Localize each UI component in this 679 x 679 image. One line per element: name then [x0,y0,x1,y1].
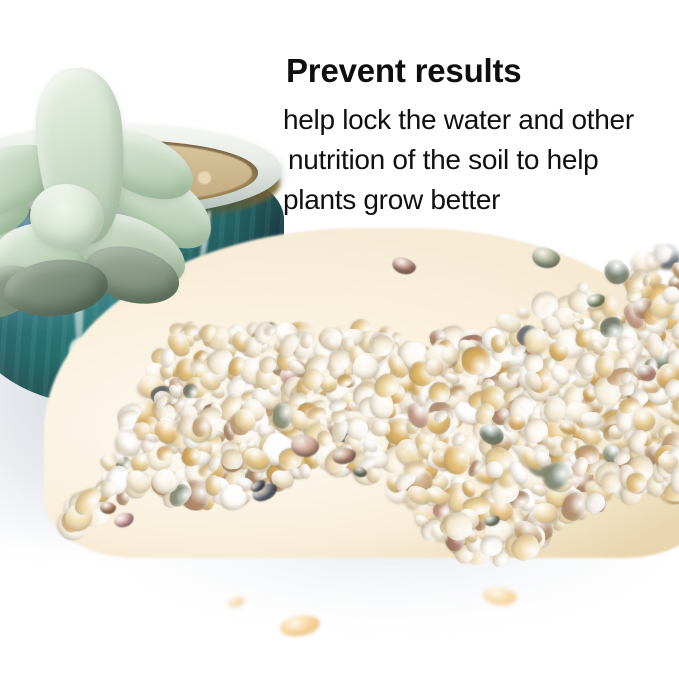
gravel-pebble [600,317,624,338]
gravel-pebble [673,323,679,340]
body-text-line-1: help lock the water and other [283,104,634,136]
gravel-pebble [429,382,450,403]
stray-pebble [482,586,518,606]
gravel-pebble [485,460,503,478]
product-image-canvas: Prevent results help lock the water and … [0,0,679,679]
stray-pebble [279,613,321,638]
gravel-pebble [580,354,596,376]
gravel-pebble [581,412,602,427]
stray-pebble [227,595,245,609]
gravel-pebble [595,355,614,377]
gravel-pebble [442,347,459,364]
body-text-line-2: nutrition of the soil to help [288,144,598,176]
body-text-line-3: plants grow better [283,184,500,216]
headline-text: Prevent results [286,52,521,90]
